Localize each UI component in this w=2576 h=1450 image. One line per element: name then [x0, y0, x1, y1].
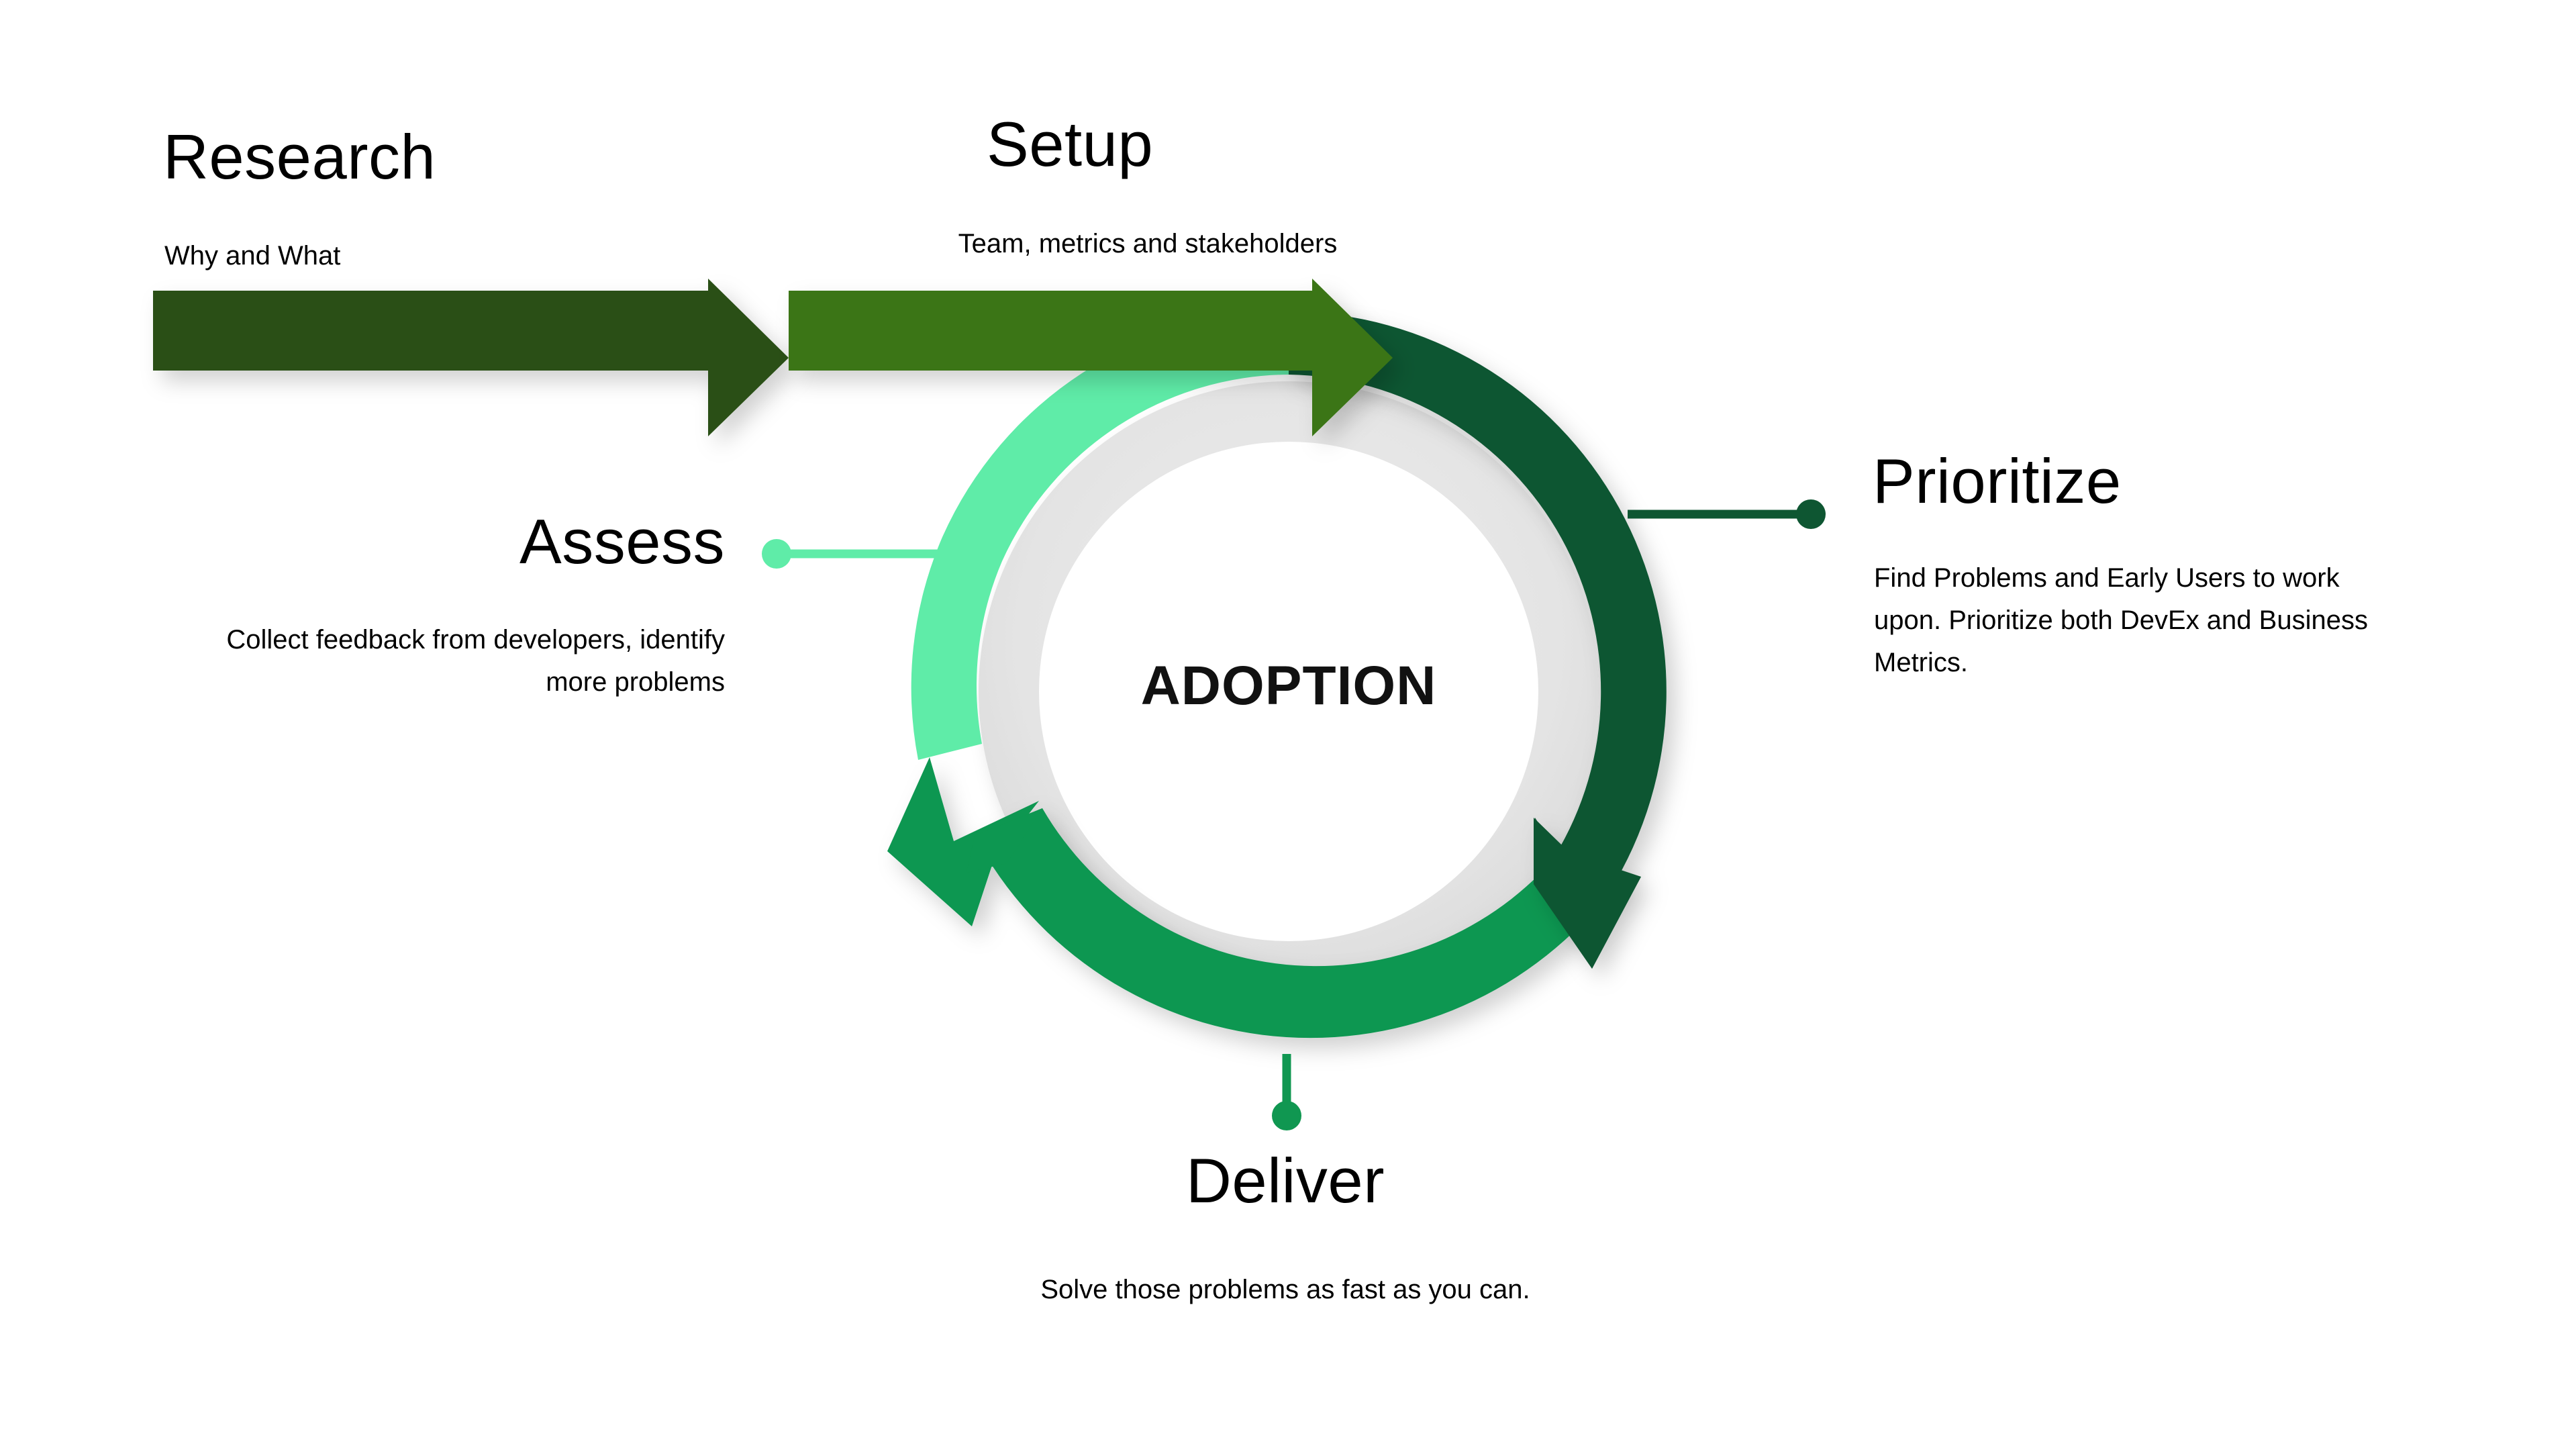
prioritize-connector — [1628, 499, 1826, 529]
step-title-assess: Assess — [242, 509, 725, 575]
step-description-assess: Collect feedback from developers, identi… — [201, 619, 725, 704]
step-description-setup: Team, metrics and stakeholders — [779, 223, 1517, 265]
step-title-deliver: Deliver — [1017, 1148, 1554, 1214]
step-title-prioritize: Prioritize — [1873, 448, 2122, 515]
step-description-prioritize: Find Problems and Early Users to work up… — [1874, 557, 2411, 685]
step-description-deliver: Solve those problems as fast as you can. — [1020, 1269, 1550, 1311]
step-title-setup: Setup — [987, 111, 1153, 178]
deliver-connector — [1272, 1054, 1301, 1130]
adoption-cycle-graphic — [0, 0, 2576, 1450]
center-label-adoption: ADOPTION — [953, 655, 1624, 718]
assess-connector — [762, 539, 953, 569]
step-description-research: Why and What — [164, 235, 769, 277]
research-arrow — [153, 279, 789, 436]
diagram-canvas: Research Why and What Setup Team, metric… — [0, 0, 2576, 1450]
step-title-research: Research — [163, 124, 436, 191]
